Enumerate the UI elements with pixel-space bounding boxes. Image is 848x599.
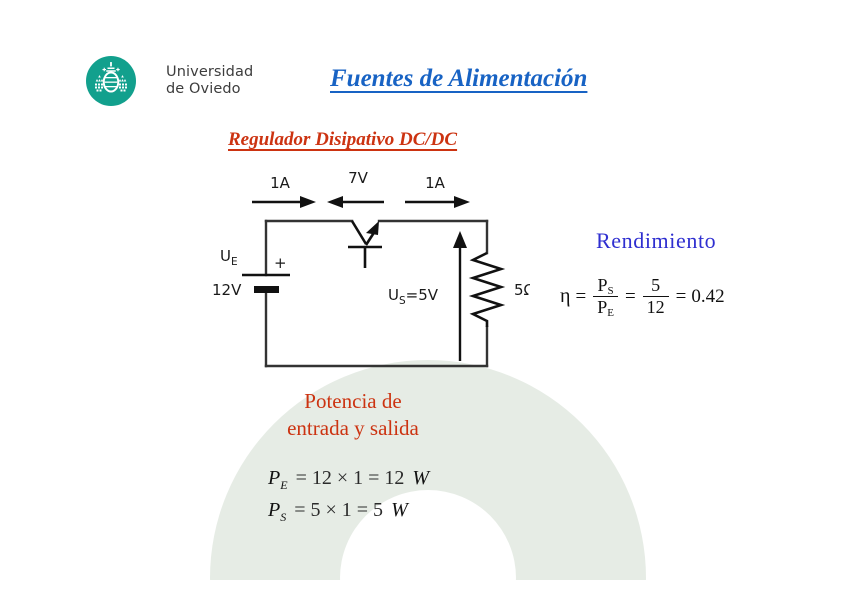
numeric-fraction: 5 12 bbox=[643, 276, 669, 317]
bjt-transistor-icon bbox=[348, 221, 382, 268]
pe-subscript: E bbox=[280, 478, 287, 492]
circuit-diagram: 1A 7V 1A bbox=[170, 165, 530, 385]
fraction-numerator-5: 5 bbox=[647, 276, 664, 295]
equals-sign-1: = bbox=[575, 286, 586, 308]
resistor-value-label: 5Ω bbox=[514, 281, 530, 299]
ps-subscript: S bbox=[280, 510, 286, 524]
resistor-zigzag-icon bbox=[473, 253, 501, 327]
equals-sign-3: = bbox=[676, 286, 687, 308]
efficiency-title: Rendimiento bbox=[596, 228, 716, 254]
output-voltage-arrow-icon bbox=[453, 231, 467, 361]
pe-symbol: P bbox=[268, 467, 280, 489]
input-current-label: 1A bbox=[270, 174, 291, 192]
source-polarity-label: + bbox=[274, 254, 287, 272]
university-name-line2: de Oviedo bbox=[166, 81, 253, 98]
efficiency-result: 0.42 bbox=[691, 286, 724, 308]
fraction-denominator-12: 12 bbox=[643, 298, 669, 317]
efficiency-formula: η = PS PE = 5 12 = 0.42 bbox=[560, 276, 725, 317]
output-voltage-label: US=5V bbox=[388, 286, 439, 307]
output-current-arrow-icon bbox=[405, 196, 470, 208]
power-title-line2: entrada y salida bbox=[248, 415, 458, 442]
equals-sign-2: = bbox=[625, 286, 636, 308]
transistor-drop-label: 7V bbox=[348, 169, 369, 187]
power-equation-output: PS = 5 × 1 = 5 W bbox=[268, 498, 429, 530]
ps-unit: W bbox=[391, 499, 408, 521]
pe-unit: W bbox=[412, 467, 429, 489]
slide-canvas: Universidad de Oviedo Fuentes de Aliment… bbox=[0, 0, 848, 599]
power-equation-input: PE = 12 × 1 = 12 W bbox=[268, 466, 429, 498]
power-equations: PE = 12 × 1 = 12 W PS = 5 × 1 = 5 W bbox=[268, 466, 429, 530]
source-voltage-label: UE bbox=[220, 247, 238, 268]
ps-symbol: P bbox=[268, 499, 280, 521]
fraction-denominator-pe: PE bbox=[593, 298, 618, 317]
universidad-oviedo-crest-icon bbox=[86, 56, 136, 106]
source-value-label: 12V bbox=[212, 281, 242, 299]
pe-expression: = 12 × 1 = 12 bbox=[296, 467, 405, 489]
battery-icon bbox=[242, 275, 290, 293]
power-ratio-fraction: PS PE bbox=[593, 276, 618, 317]
university-name: Universidad de Oviedo bbox=[166, 64, 253, 98]
page-subtitle: Regulador Disipativo DC/DC bbox=[228, 129, 457, 151]
page-title: Fuentes de Alimentación bbox=[330, 65, 587, 93]
input-current-arrow-icon bbox=[252, 196, 316, 208]
fraction-numerator-ps: PS bbox=[593, 276, 617, 295]
power-title-line1: Potencia de bbox=[248, 388, 458, 415]
transistor-drop-arrow-icon bbox=[327, 196, 384, 208]
ps-expression: = 5 × 1 = 5 bbox=[294, 499, 383, 521]
eta-symbol: η bbox=[560, 285, 570, 308]
power-title: Potencia de entrada y salida bbox=[248, 388, 458, 442]
output-current-label: 1A bbox=[425, 174, 446, 192]
university-name-line1: Universidad bbox=[166, 64, 253, 81]
